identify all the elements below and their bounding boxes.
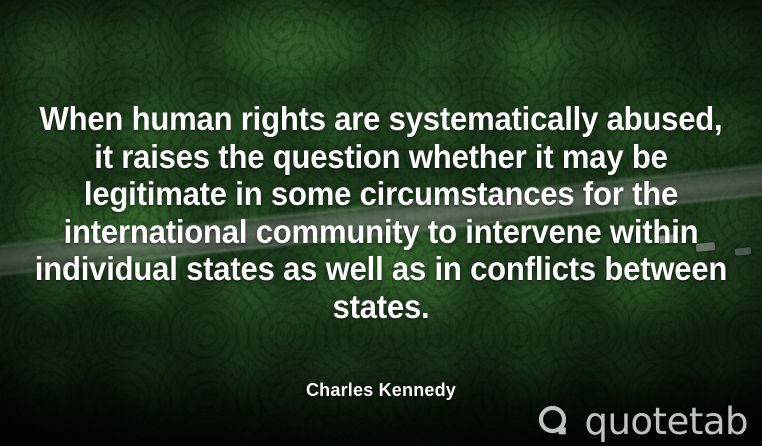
brand-logo[interactable]: quotetab (536, 403, 748, 440)
author-name: Charles Kennedy (0, 380, 762, 401)
quotetab-q-mark-icon (536, 404, 572, 440)
card-content: When human rights are systematically abu… (0, 0, 762, 446)
brand-wordmark: quotetab (584, 403, 748, 440)
quote-card: When human rights are systematically abu… (0, 0, 762, 446)
quote-text: When human rights are systematically abu… (23, 100, 739, 325)
